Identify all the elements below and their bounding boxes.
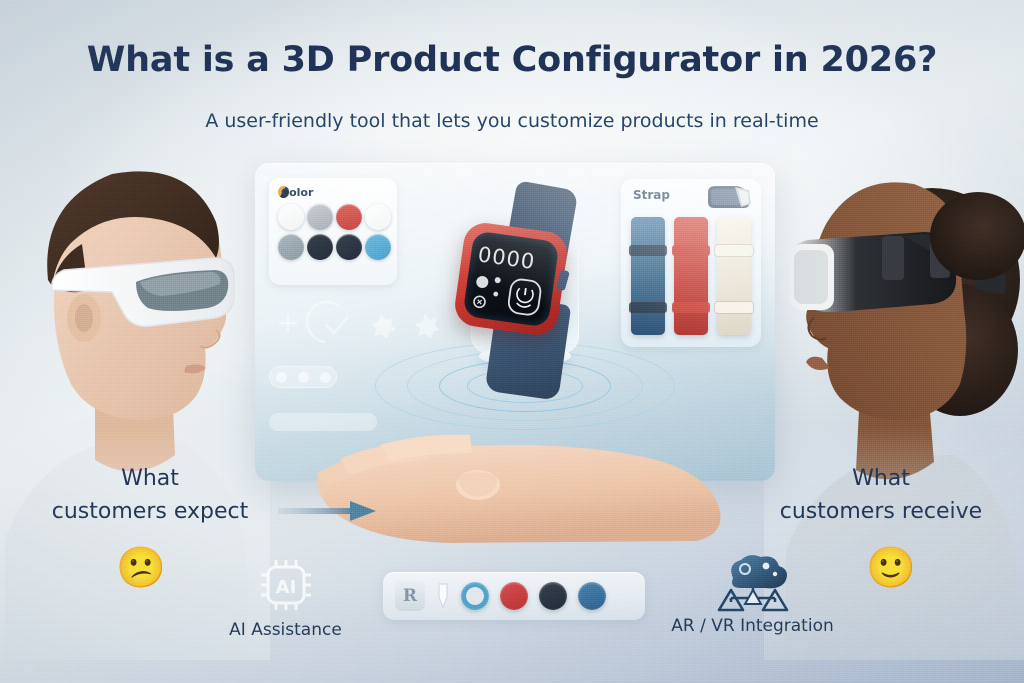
brand-mark-icon[interactable]: R — [395, 581, 425, 611]
color-swatch-sky-blue[interactable] — [365, 234, 391, 260]
strap-option-blue[interactable] — [631, 217, 665, 335]
color-swatch-dark-navy-2[interactable] — [336, 234, 362, 260]
color-swatch-grid[interactable] — [278, 204, 390, 260]
left-caption: What customers expect — [30, 462, 270, 528]
feature-ar-vr-integration: AR / VR Integration — [640, 552, 865, 636]
color-selector-card[interactable]: Color — [269, 178, 397, 285]
toolbar-dot-selected-white[interactable] — [461, 582, 489, 610]
right-caption: What customers receive — [756, 462, 1006, 528]
left-caption-line2: customers expect — [30, 495, 270, 528]
cursor-pointer-icon[interactable] — [436, 583, 450, 609]
smartwatch-product[interactable]: 0000 — [453, 185, 603, 395]
bottom-color-toolbar[interactable]: R — [383, 572, 645, 620]
right-caption-line2: customers receive — [756, 495, 1006, 528]
toolbar-dot-dark-navy[interactable] — [539, 582, 567, 610]
strap-selector-card[interactable]: Strap — [621, 179, 761, 347]
color-swatch-silver[interactable] — [307, 204, 333, 230]
ai-icon-text: AI — [275, 577, 296, 598]
vr-headset-icon — [705, 184, 753, 210]
feature-arvr-label: AR / VR Integration — [640, 616, 865, 636]
strap-options[interactable] — [631, 217, 751, 335]
color-swatch-dark-navy[interactable] — [307, 234, 333, 260]
page-title: What is a 3D Product Configurator in 202… — [0, 40, 1024, 80]
right-caption-line1: What — [756, 462, 1006, 495]
feature-ai-label: AI Assistance — [198, 620, 373, 640]
confused-face-emoji: 😕 — [116, 548, 166, 588]
right-arrow-icon — [278, 497, 378, 525]
watch-crown-button[interactable] — [556, 269, 570, 291]
watch-screen-glyphs — [469, 271, 550, 321]
toolbar-dot-red[interactable] — [500, 582, 528, 610]
color-swatch-red[interactable] — [336, 204, 362, 230]
watch-case: 0000 — [452, 220, 569, 337]
left-caption-line1: What — [30, 462, 270, 495]
page-subtitle: A user-friendly tool that lets you custo… — [0, 110, 1024, 132]
status-dot — [276, 372, 287, 383]
strap-option-cream[interactable] — [717, 217, 751, 335]
ai-chip-icon: AI — [256, 556, 316, 614]
color-swatch-white[interactable] — [278, 204, 304, 230]
strap-option-red[interactable] — [674, 217, 708, 335]
strap-panel-label: Strap — [633, 188, 670, 202]
poster-canvas: What is a 3D Product Configurator in 202… — [0, 0, 1024, 683]
color-swatch-slate-gray[interactable] — [278, 234, 304, 260]
status-dots-pill — [269, 366, 337, 388]
color-panel-label: Color — [281, 186, 313, 199]
status-dot — [320, 372, 331, 383]
ghost-tool-icons — [269, 298, 459, 348]
feature-ai-assistance: AI AI Assistance — [198, 556, 373, 640]
toolbar-dot-blue[interactable] — [578, 582, 606, 610]
color-swatch-white-2[interactable] — [365, 204, 391, 230]
slightly-smiling-face-emoji: 🙂 — [866, 548, 916, 588]
status-dot — [298, 372, 309, 383]
watch-screen: 0000 — [462, 230, 559, 327]
watch-screen-digits: 0000 — [476, 242, 536, 274]
cloud-network-icon — [711, 552, 795, 614]
open-hand — [300, 415, 730, 545]
